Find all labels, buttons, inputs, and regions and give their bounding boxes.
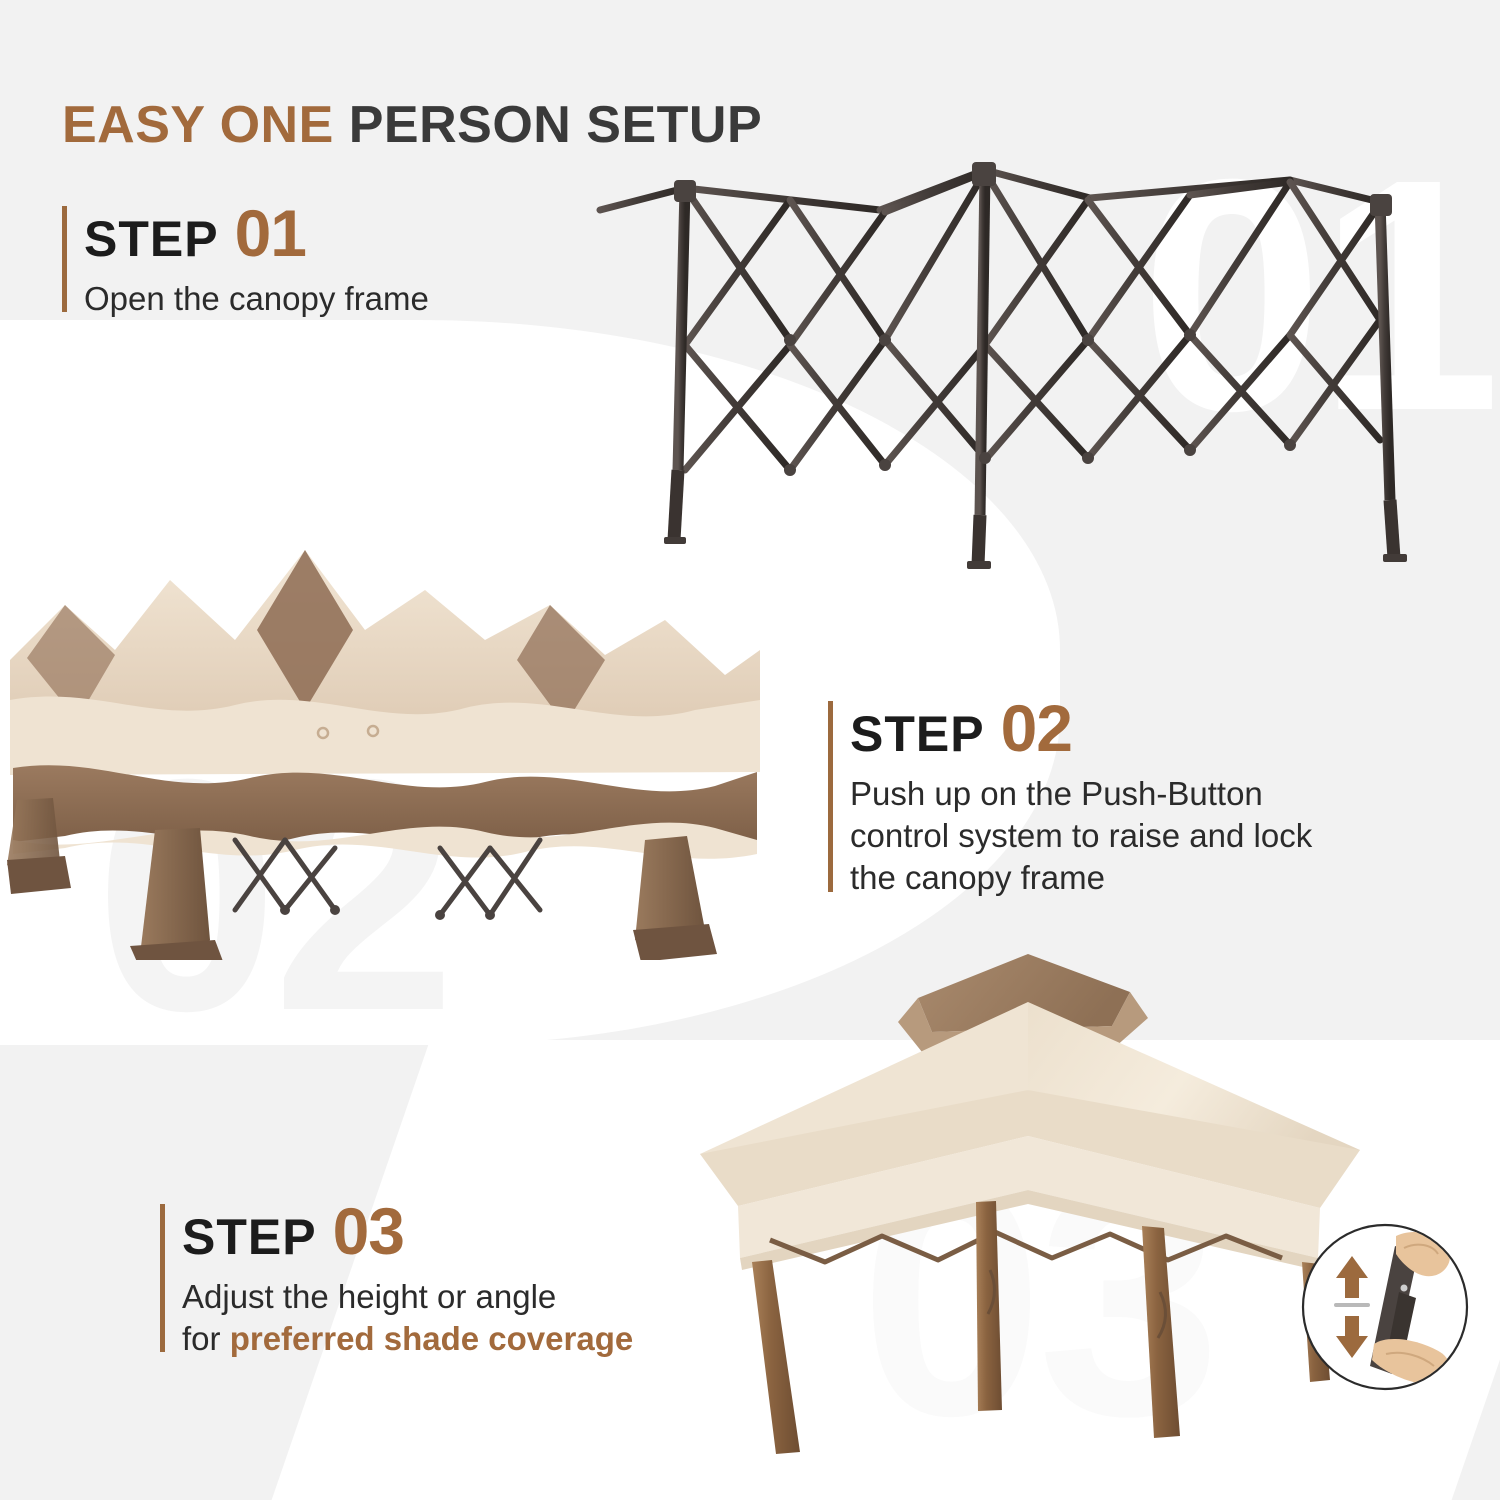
headline-rest: PERSON SETUP xyxy=(349,96,762,154)
step-02-description: Push up on the Push-Button control syste… xyxy=(850,773,1312,900)
step-block-01: STEP 01 Open the canopy frame xyxy=(62,200,429,320)
step-block-02: STEP 02 Push up on the Push-Button contr… xyxy=(828,695,1312,900)
step-01-heading: STEP 01 xyxy=(84,200,429,266)
step-03-highlight: preferred shade coverage xyxy=(230,1320,634,1357)
step-01-description: Open the canopy frame xyxy=(84,278,429,320)
draped-canopy-illustration xyxy=(5,510,765,960)
step-03-number: 03 xyxy=(333,1198,404,1264)
page-title: EASY ONE PERSON SETUP xyxy=(62,95,762,155)
headline-accent: EASY ONE xyxy=(62,96,334,154)
step-02-line-1: Push up on the Push-Button xyxy=(850,773,1312,815)
step-01-word: STEP xyxy=(84,214,219,264)
step-02-number: 02 xyxy=(1001,695,1072,761)
step-03-line-1: Adjust the height or angle xyxy=(182,1276,633,1318)
step-block-03: STEP 03 Adjust the height or angle for p… xyxy=(160,1198,633,1360)
step-02-heading: STEP 02 xyxy=(850,695,1312,761)
step-03-heading: STEP 03 xyxy=(182,1198,633,1264)
step-02-word: STEP xyxy=(850,709,985,759)
step-02-line-2: control system to raise and lock xyxy=(850,815,1312,857)
canopy-frame-illustration xyxy=(590,140,1430,570)
step-03-word: STEP xyxy=(182,1212,317,1262)
step-03-prefix: for xyxy=(182,1320,230,1357)
infographic-canvas: 01 02 03 xyxy=(0,0,1500,1500)
leg-adjust-inset xyxy=(1300,1222,1470,1392)
step-01-number: 01 xyxy=(235,200,306,266)
step-03-line-2: for preferred shade coverage xyxy=(182,1318,633,1360)
erected-gazebo-illustration xyxy=(660,940,1390,1460)
step-03-description: Adjust the height or angle for preferred… xyxy=(182,1276,633,1360)
step-02-line-3: the canopy frame xyxy=(850,857,1312,899)
